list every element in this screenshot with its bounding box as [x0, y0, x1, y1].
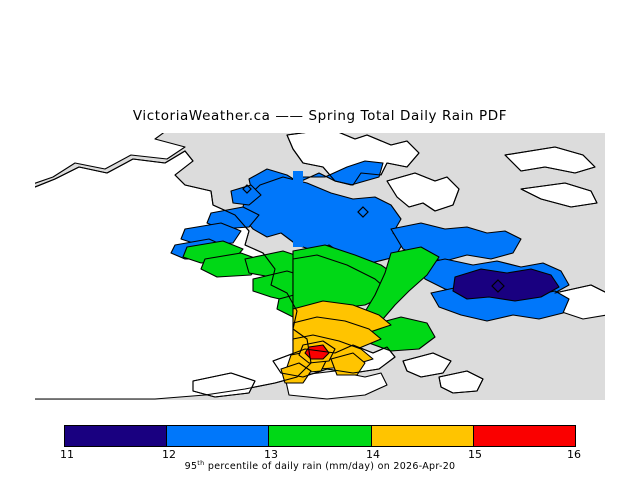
colorbar-caption: 95th percentile of daily rain (mm/day) o…	[0, 459, 640, 472]
colorbar-segment-13-14[interactable]	[269, 426, 371, 446]
colorbar-shadow	[3, 3, 515, 25]
caption-suffix: percentile of daily rain (mm/day) on 202…	[205, 461, 456, 472]
weather-map-figure: VictoriaWeather.ca —— Spring Total Daily…	[0, 0, 640, 480]
colorbar-segment-11-12[interactable]	[65, 426, 167, 446]
page-title: VictoriaWeather.ca —— Spring Total Daily…	[0, 108, 640, 124]
caption-prefix: 95	[185, 461, 198, 472]
colorbar-segments[interactable]	[64, 425, 576, 447]
colorbar-segment-15-16[interactable]	[474, 426, 575, 446]
map-canvas[interactable]	[35, 133, 605, 400]
map-svg	[35, 133, 605, 400]
colorbar-segment-12-13[interactable]	[167, 426, 269, 446]
caption-superscript: th	[197, 459, 204, 467]
colorbar[interactable]	[64, 425, 576, 447]
colorbar-segment-14-15[interactable]	[372, 426, 474, 446]
region-far-east-navy-core	[453, 269, 559, 301]
